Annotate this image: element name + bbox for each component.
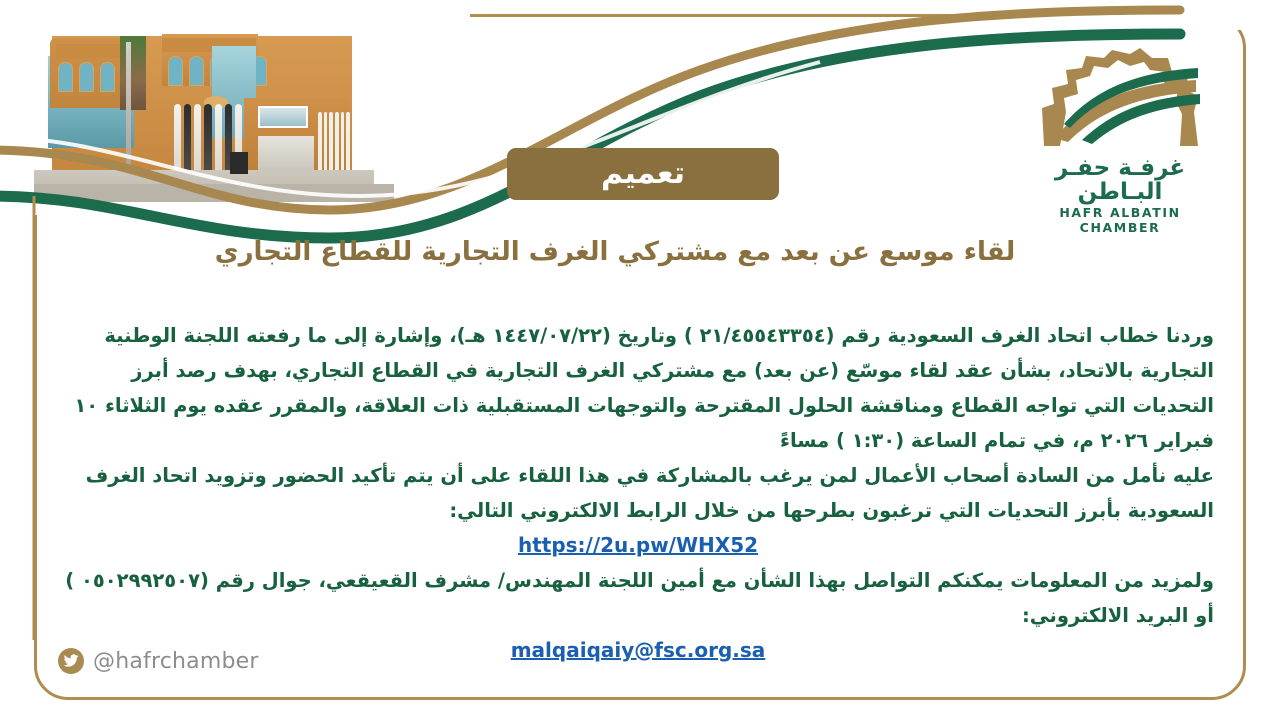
twitter-bird-icon[interactable] bbox=[58, 648, 84, 674]
registration-link[interactable]: https://2u.pw/WHX52 bbox=[518, 528, 758, 563]
logo-english-name: HAFR ALBATIN CHAMBER bbox=[1020, 205, 1220, 235]
building-right-columns bbox=[318, 112, 350, 170]
paragraph-1: وردنا خطاب اتحاد الغرف السعودية رقم (٢١/… bbox=[62, 318, 1214, 458]
contact-paragraph: ولمزيد من المعلومات يمكنكم التواصل بهذا … bbox=[62, 563, 1214, 633]
contact-email-link[interactable]: malqaiqaiy@fsc.org.sa bbox=[511, 633, 766, 668]
body-content: وردنا خطاب اتحاد الغرف السعودية رقم (٢١/… bbox=[62, 318, 1214, 668]
building-banner bbox=[120, 36, 146, 110]
building-sign-left bbox=[56, 44, 120, 58]
page-title: لقاء موسع عن بعد مع مشتركي الغرف التجاري… bbox=[190, 236, 1040, 270]
chamber-building-photo bbox=[22, 12, 422, 202]
circular-type-badge: تعميم bbox=[507, 148, 779, 200]
twitter-handle-label: @hafrchamber bbox=[93, 649, 259, 674]
building-road bbox=[34, 184, 394, 202]
building-flagpole bbox=[126, 42, 131, 172]
border-mask-topright bbox=[1000, 0, 1280, 30]
chamber-logo: غرفـة حفـر البـاطن HAFR ALBATIN CHAMBER bbox=[1020, 42, 1220, 202]
building-entrance bbox=[258, 136, 314, 170]
circular-poster: غرفـة حفـر البـاطن HAFR ALBATIN CHAMBER … bbox=[0, 0, 1280, 720]
building-window bbox=[258, 106, 308, 128]
registration-link-line: https://2u.pw/WHX52 bbox=[62, 528, 1214, 563]
badge-label: تعميم bbox=[601, 159, 685, 189]
paragraph-2: عليه نأمل من السادة أصحاب الأعمال لمن ير… bbox=[62, 458, 1214, 528]
chamber-arch-logo-icon bbox=[1020, 42, 1220, 154]
building-kiosk bbox=[230, 152, 248, 174]
social-handle[interactable]: @hafrchamber bbox=[58, 648, 259, 674]
logo-arabic-name: غرفـة حفـر البـاطن bbox=[1020, 156, 1220, 204]
